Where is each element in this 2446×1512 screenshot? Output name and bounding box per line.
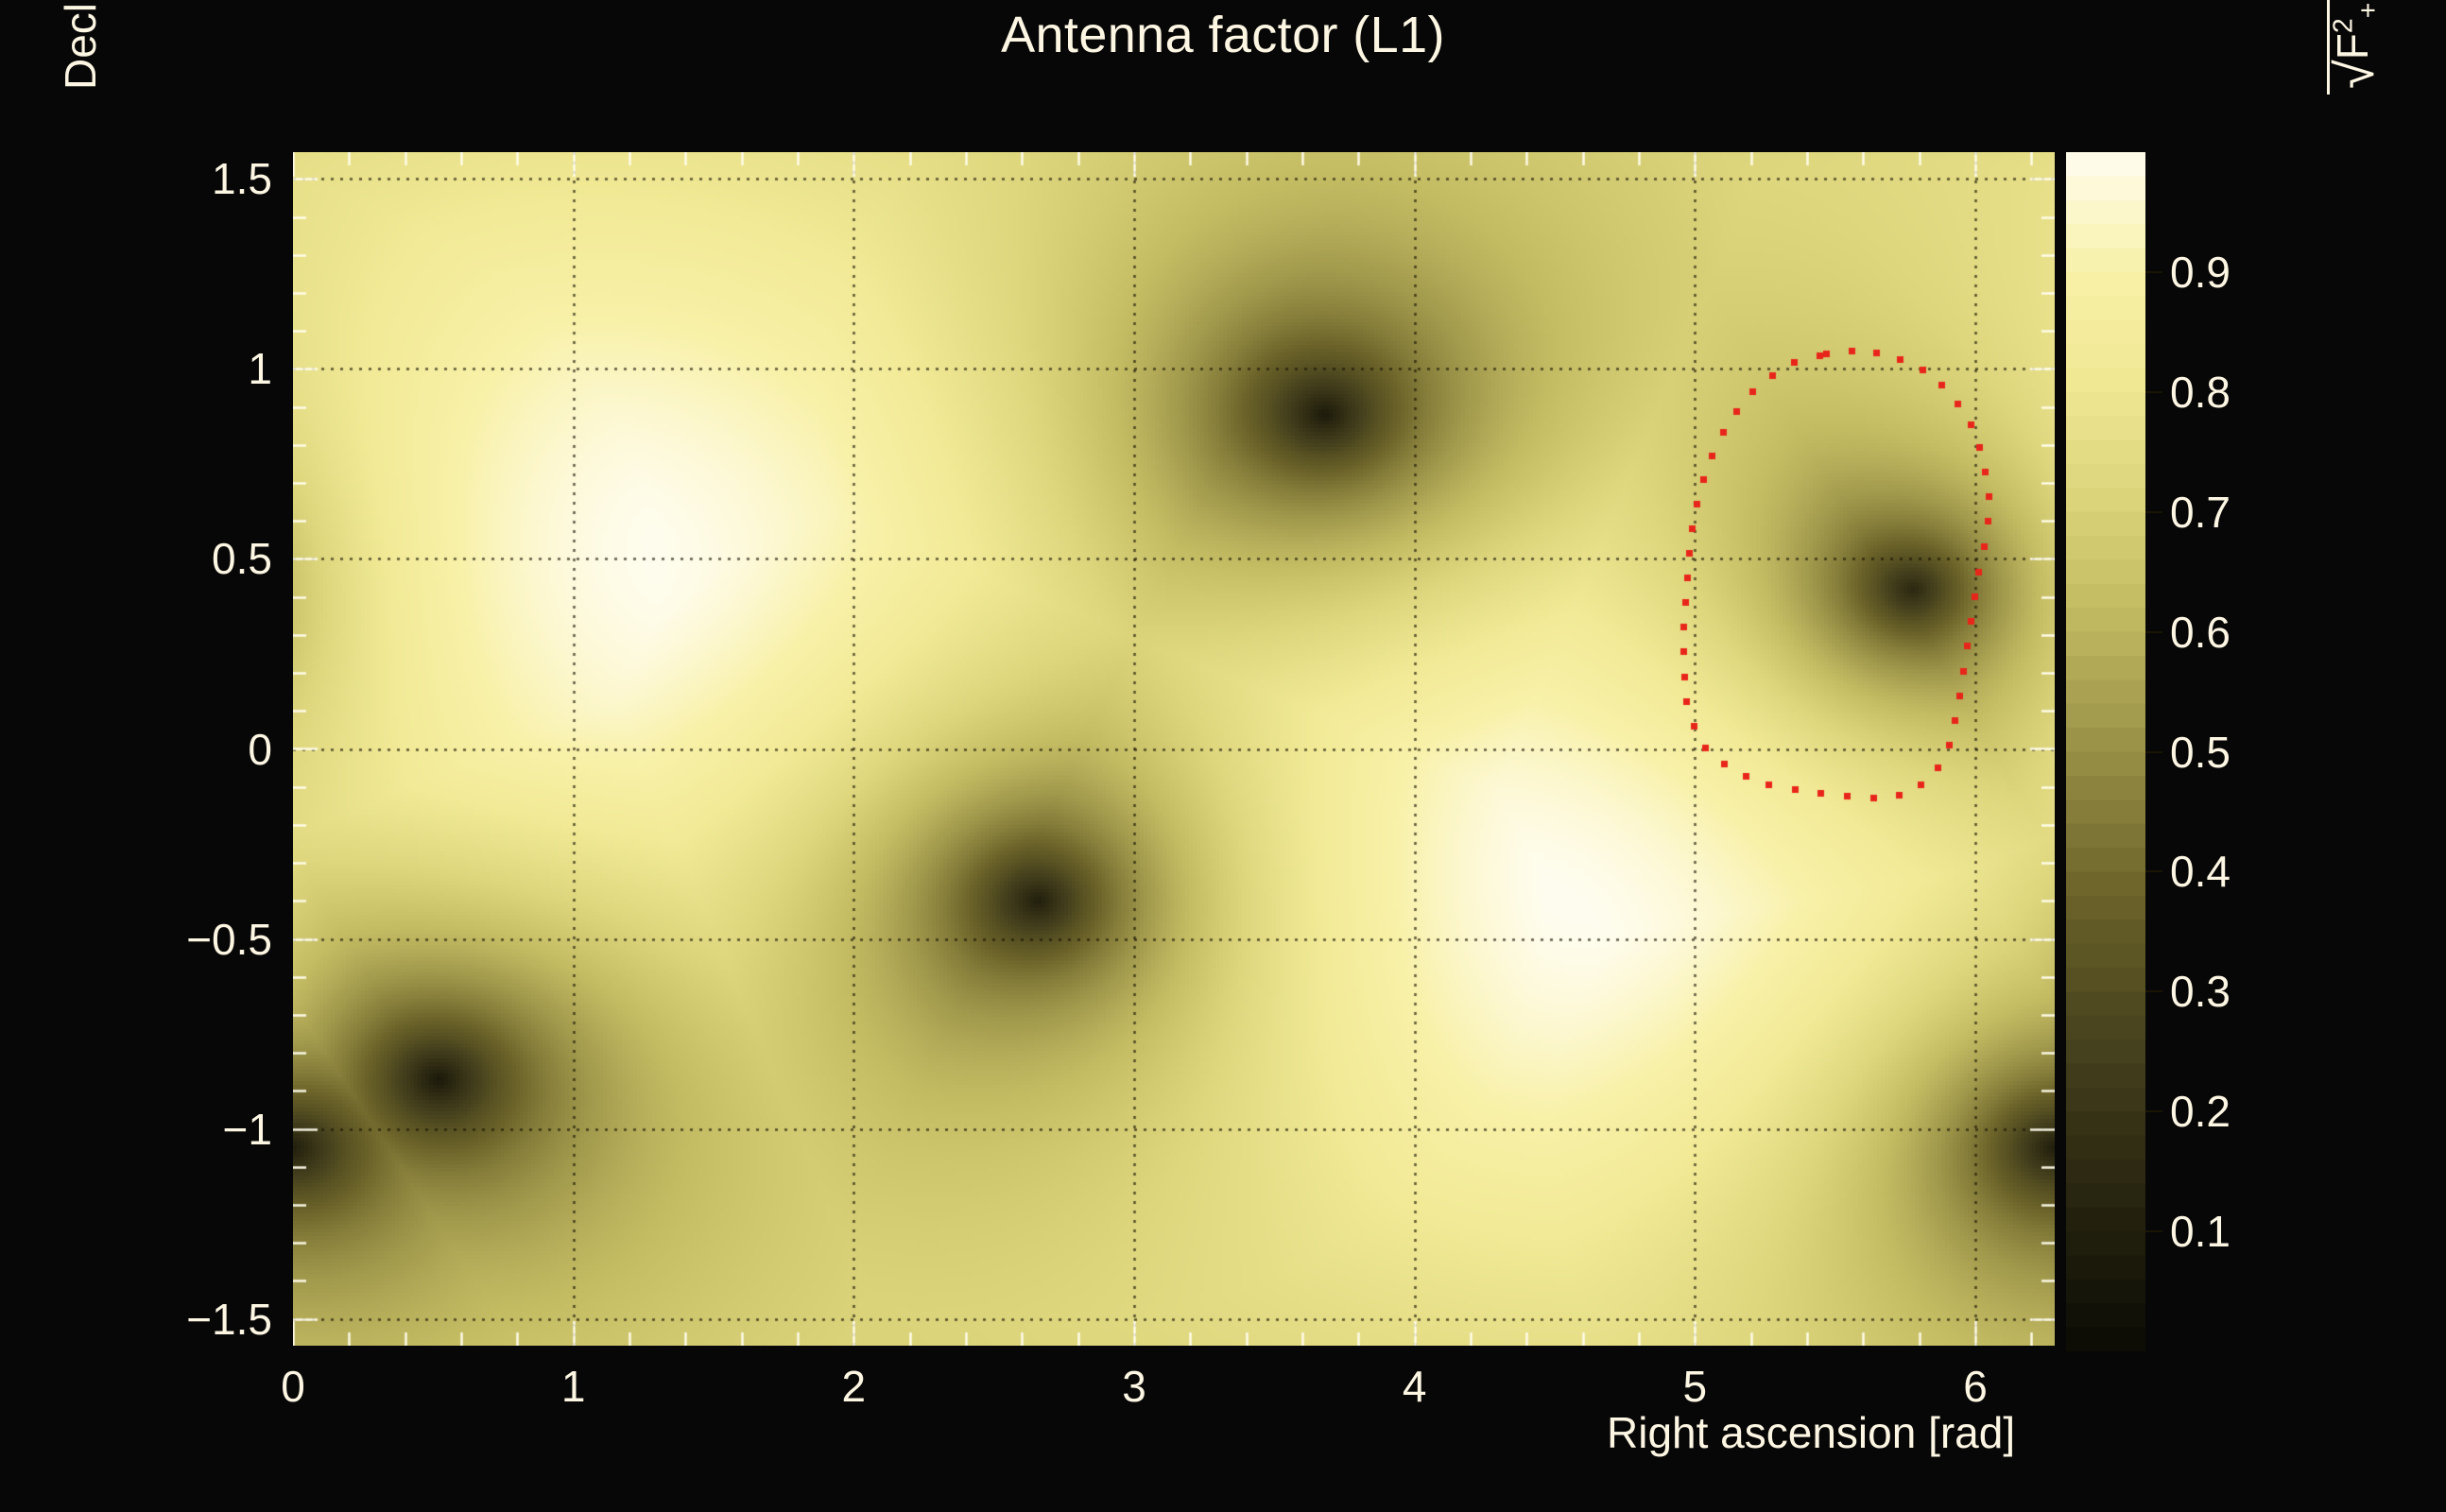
x-axis-tick-label: 1 — [561, 1361, 586, 1412]
y-axis-title: Declination [rad] — [55, 0, 106, 90]
f-plus-term: F2+ — [2328, 3, 2377, 60]
colorbar-tick — [2145, 990, 2162, 992]
y-axis-tick-label: 0.5 — [212, 533, 272, 584]
sqrt-icon: √ — [2332, 60, 2379, 89]
colorbar-tick-label: 0.5 — [2170, 727, 2231, 778]
y-axis-tick-label: 0 — [248, 724, 272, 775]
x-axis-tick-label: 6 — [1963, 1361, 1988, 1412]
z-axis-title: √F2+ + F2x — [2327, 0, 2385, 94]
colorbar-tick — [2145, 870, 2162, 872]
colorbar-tick — [2145, 391, 2162, 393]
y-axis-tick-label: 1.5 — [212, 153, 272, 204]
colorbar-tick-label: 0.2 — [2170, 1086, 2231, 1137]
colorbar-tick — [2145, 1230, 2162, 1232]
colorbar-tick-label: 0.8 — [2170, 367, 2231, 418]
colorbar-tick-label: 0.1 — [2170, 1206, 2231, 1257]
x-axis-tick-label: 4 — [1403, 1361, 1427, 1412]
page-title: Antenna factor (L1) — [0, 6, 2446, 64]
y-axis-tick-label: 1 — [248, 343, 272, 394]
x-axis-tick-label: 5 — [1683, 1361, 1708, 1412]
colorbar[interactable]: 0.90.80.70.60.50.40.30.20.1 — [2066, 152, 2145, 1351]
colorbar-tick-label: 0.3 — [2170, 966, 2231, 1017]
colorbar-tick — [2145, 631, 2162, 633]
sky-localization-contour — [293, 152, 2055, 1346]
colorbar-tick-label: 0.6 — [2170, 607, 2231, 658]
colorbar-tick — [2145, 271, 2162, 273]
x-axis-tick-label: 0 — [281, 1361, 305, 1412]
y-axis-tick-label: −0.5 — [186, 914, 272, 965]
colorbar-tick-label: 0.4 — [2170, 846, 2231, 897]
x-axis-tick-label: 3 — [1122, 1361, 1146, 1412]
figure-canvas: Antenna factor (L1) Declination [rad] Ri… — [0, 0, 2446, 1512]
colorbar-tick — [2145, 1110, 2162, 1112]
x-axis-tick-label: 2 — [842, 1361, 867, 1412]
colorbar-tick-label: 0.9 — [2170, 247, 2231, 298]
sqrt-expression: √F2+ + F2x — [2327, 0, 2385, 94]
y-axis-tick-label: −1 — [223, 1104, 272, 1155]
colorbar-tick — [2145, 751, 2162, 753]
y-axis-tick-label: −1.5 — [186, 1294, 272, 1345]
colorbar-gradient — [2066, 152, 2145, 1351]
colorbar-tick-label: 0.7 — [2170, 487, 2231, 538]
colorbar-tick — [2145, 511, 2162, 513]
heatmap-plot-area[interactable] — [293, 152, 2055, 1346]
x-axis-title: Right ascension [rad] — [1607, 1407, 2015, 1458]
vinculum — [2327, 0, 2330, 94]
